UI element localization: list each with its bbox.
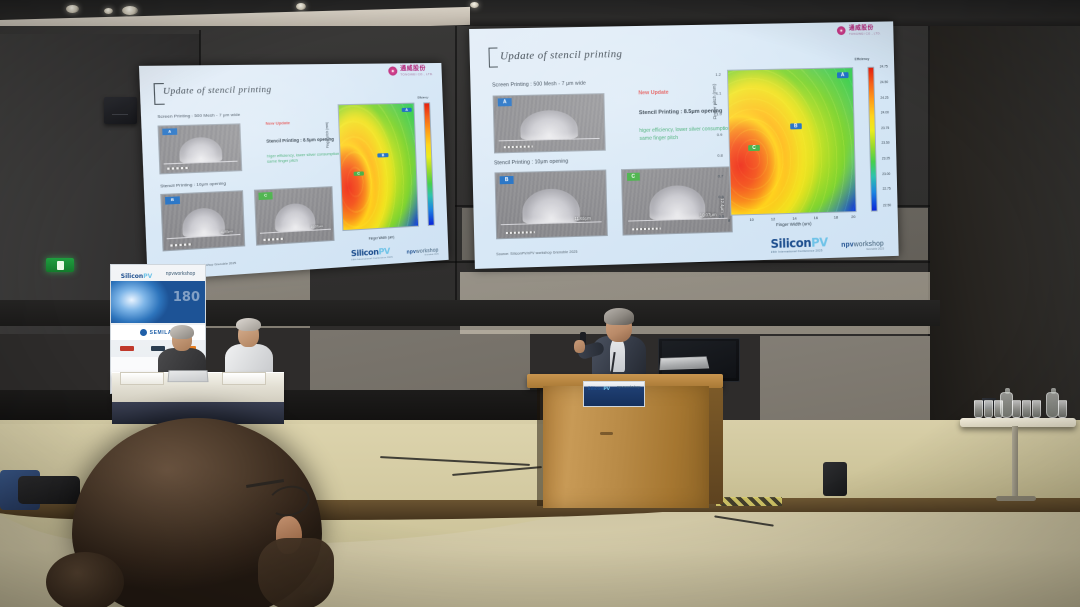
scale-bar	[170, 243, 191, 246]
nameplate	[222, 372, 266, 385]
cbar-tick: 23.75	[881, 126, 889, 130]
sem-tag-b: B	[500, 176, 514, 184]
laptop[interactable]	[167, 370, 208, 382]
slide-left: 通威股份 TONGWEI CO., LTD. Update of stencil…	[139, 63, 449, 281]
contour-lines	[728, 68, 855, 215]
ytick: 0.6	[718, 194, 724, 199]
bag	[18, 476, 80, 504]
screen-printing-label: Screen Printing : 500 Mesh - 7 μm wide	[157, 112, 240, 119]
ceiling-spotlight	[296, 3, 306, 10]
sem-image-c: C 10.07μm 12.4μm	[621, 166, 733, 235]
sem-tag-c: C	[259, 192, 273, 199]
efficiency-heatmap-chart: A B C Finger Width (um) Finger pitch (mm…	[727, 67, 856, 216]
sem-tag-a: A	[498, 99, 512, 107]
finger-cross-section	[182, 207, 225, 238]
stencil-85-label: Stencil Printing : 8.5μm opening	[266, 136, 334, 143]
scale-bar	[632, 227, 660, 230]
xtick: 10	[749, 217, 753, 222]
sem-image-a: A	[158, 124, 243, 175]
wall-speaker-icon	[104, 97, 137, 124]
slide-title: Update of stencil printing	[500, 48, 623, 62]
wall-panel	[760, 336, 930, 422]
drinking-glass	[1032, 400, 1041, 418]
cbar-tick: 22.75	[883, 187, 891, 191]
chart-point-a: A	[837, 72, 848, 78]
conference-hall-photo: 通威股份 TONGWEI CO., LTD. Update of stencil…	[0, 0, 1080, 607]
sem-tag-c: C	[626, 172, 640, 180]
slide-right: 通威股份 TONGWEI CO., LTD. Update of stencil…	[469, 21, 899, 269]
xtick: 8	[728, 218, 730, 223]
sem-dim-b: 11.65μm	[220, 229, 233, 234]
scale-bar	[503, 145, 532, 148]
sem-image-b: B 11.65μm	[161, 190, 246, 251]
slide-footer-logos: SiliconPV 15th International Conference …	[770, 235, 884, 254]
ytick: 0.5	[719, 214, 725, 219]
ceiling-spotlight	[66, 5, 79, 13]
colorbar	[867, 66, 877, 212]
drinking-glass	[1012, 400, 1021, 418]
banner-hero-number: 180	[173, 290, 200, 305]
drinking-glass	[984, 400, 993, 418]
presenter-hand	[574, 340, 585, 353]
cbar-tick: 24.50	[880, 80, 888, 84]
presenter-hair	[604, 308, 634, 325]
podium-sign-logos: SiliconPV npvworkshop	[584, 383, 644, 389]
slide-footer-logos: SiliconPV 15th International Conference …	[351, 244, 439, 261]
siliconpv-logo: SiliconPV 15th International Conference …	[351, 247, 393, 261]
projection-screen-left: 通威股份 TONGWEI CO., LTD. Update of stencil…	[139, 63, 449, 281]
finger-cross-section	[522, 188, 580, 223]
sem-dim-c: 10.07μm	[310, 224, 322, 229]
finger-cross-section	[179, 137, 222, 163]
npv-n: npv	[841, 242, 854, 249]
slide-title: Update of stencil printing	[163, 83, 272, 95]
cbar-tick: 23.00	[882, 172, 890, 176]
xtick: 16	[814, 216, 818, 221]
title-bracket-icon	[488, 48, 497, 68]
cbar-tick: 23.25	[882, 156, 890, 160]
ytick: 1.1	[716, 91, 722, 96]
side-table-base	[996, 496, 1036, 501]
siliconpv-sub: 15th International Conference 2025	[771, 249, 828, 254]
npvworkshop-logo: npvworkshop Grenoble 2025	[407, 248, 439, 257]
wall-seam	[455, 26, 457, 326]
new-update-heading: New Update	[265, 120, 290, 126]
podium-handle	[600, 432, 613, 435]
stencil-85-label: Stencil Printing : 8.5μm opening	[639, 109, 722, 117]
substrate-line	[499, 138, 600, 141]
sem-tag-b: B	[165, 197, 180, 205]
sponsor-chip	[120, 346, 134, 351]
stencil-10-label: Stencil Printing : 10μm opening	[160, 181, 226, 189]
ytick: 0.9	[717, 132, 723, 137]
drinking-glass	[1022, 400, 1031, 418]
contour-lines	[338, 104, 418, 229]
company-logo: 通威股份 TONGWEI CO., LTD.	[388, 66, 433, 77]
cbar-tick: 22.50	[883, 203, 891, 207]
presenter-laptop[interactable]	[659, 356, 709, 370]
benefit-text: higer efficiency, lower silver consumpti…	[267, 151, 345, 165]
side-table-leg	[1012, 426, 1018, 498]
company-name-sub: TONGWEI CO., LTD.	[400, 72, 433, 76]
xtick: 18	[834, 215, 838, 220]
finger-cross-section	[275, 202, 316, 232]
npvworkshop-logo: npvworkshop Grenoble 2025	[841, 241, 884, 252]
siliconpv-si: Silicon	[351, 247, 379, 258]
audience-member-beard	[258, 538, 334, 607]
cbar-tick: 24.75	[880, 65, 888, 69]
scale-bar	[264, 237, 284, 240]
banner-siliconpv-si: Silicon	[121, 273, 143, 280]
sem-tag-a: A	[162, 128, 177, 135]
drinking-glass	[994, 400, 1003, 418]
scale-bar	[167, 167, 188, 170]
ceiling-spotlight	[470, 2, 479, 8]
sem-dim-c: 10.07μm	[700, 212, 717, 217]
colorbar-title: Efficiency	[855, 57, 870, 61]
podium-sign: SiliconPV npvworkshop	[583, 381, 645, 407]
podium-sign-pv: PV	[603, 387, 610, 392]
xtick: 14	[792, 216, 796, 221]
drinking-glass	[974, 400, 983, 418]
scale-bar	[506, 231, 535, 234]
company-logo: 通威股份 TONGWEI CO., LTD.	[837, 25, 881, 36]
siliconpv-logo: SiliconPV 15th International Conference …	[770, 236, 828, 253]
ceiling-spotlight	[104, 8, 113, 14]
banner-hero-image: 180	[111, 281, 205, 323]
xtick: 12	[771, 217, 775, 222]
panelist-right-hair	[236, 318, 261, 331]
finger-cross-section	[649, 185, 706, 220]
podium-sign-si: Silicon	[588, 387, 604, 392]
screen-printing-label: Screen Printing : 500 Mesh - 7 μm wide	[492, 81, 586, 89]
ytick: 1.0	[716, 112, 722, 117]
npv-n: npv	[407, 249, 417, 256]
company-mark-icon	[388, 67, 397, 76]
panelist-left-hair	[170, 325, 194, 339]
podium-sign-npv: npvworkshop	[617, 384, 641, 389]
substrate-line	[501, 221, 602, 225]
company-name-sub: TONGWEI CO., LTD.	[849, 31, 881, 36]
ceiling-spotlight	[122, 6, 138, 15]
colorbar	[423, 103, 434, 226]
ytick: 1.2	[715, 72, 721, 77]
waste-bin	[823, 462, 847, 496]
cbar-tick: 23.50	[881, 141, 889, 145]
chart-xlabel: Finger Width (um)	[342, 233, 420, 242]
siliconpv-pv: PV	[378, 246, 390, 256]
nameplate	[120, 372, 164, 385]
chart-point-b: B	[790, 124, 801, 130]
right-wall	[930, 26, 1080, 446]
colorbar-title: Efficiency	[417, 96, 428, 99]
heatmap-plot-area: A B C	[727, 67, 856, 216]
podium-side	[709, 388, 723, 504]
exit-door-glyph	[57, 261, 64, 270]
drinking-glass	[1058, 400, 1067, 418]
finger-cross-section	[520, 109, 578, 139]
chart-ylabel: Finger pitch (mm)	[324, 123, 329, 149]
source-note: Source: SiliconPV/nPV workshop Grenoble …	[496, 250, 577, 256]
audience-member-hair-bun	[46, 552, 124, 607]
ytick: 0.7	[718, 173, 724, 178]
banner-npvworkshop: npvworkshop	[166, 271, 195, 277]
exit-sign	[46, 258, 74, 272]
substrate-line	[164, 160, 238, 164]
side-table	[960, 418, 1076, 427]
stencil-10-label: Stencil Printing : 10μm opening	[494, 159, 568, 167]
banner-header-logos: SiliconPV npvworkshop	[111, 267, 205, 280]
xtick: 20	[851, 214, 855, 219]
heatmap-plot-area: A B C	[337, 103, 419, 231]
sem-image-b: B 11.65μm	[494, 170, 607, 240]
company-mark-icon	[837, 26, 846, 35]
banner-siliconpv-pv: PV	[143, 273, 152, 280]
projection-screen-right: 通威股份 TONGWEI CO., LTD. Update of stencil…	[469, 21, 899, 269]
chart-point-c: C	[748, 145, 759, 151]
sem-image-a: A	[492, 93, 605, 153]
semilab-mark-icon	[140, 329, 147, 336]
substrate-line	[628, 218, 728, 222]
new-update-heading: New Update	[638, 90, 668, 97]
sem-image-c: C 10.07μm	[254, 186, 335, 246]
sem-dim-b: 11.65μm	[574, 215, 591, 220]
cbar-tick: 24.25	[880, 95, 888, 99]
cbar-tick: 24.00	[881, 111, 889, 115]
efficiency-heatmap-chart: A B C Finger Width (um) Finger pitch (mm…	[337, 103, 419, 231]
sem-dim-c-vertical: 12.4μm	[720, 198, 725, 213]
stage-hazard-marking	[716, 497, 782, 506]
ytick: 0.8	[717, 153, 723, 158]
chart-point-c: C	[353, 172, 364, 177]
chart-point-a: A	[401, 108, 412, 112]
